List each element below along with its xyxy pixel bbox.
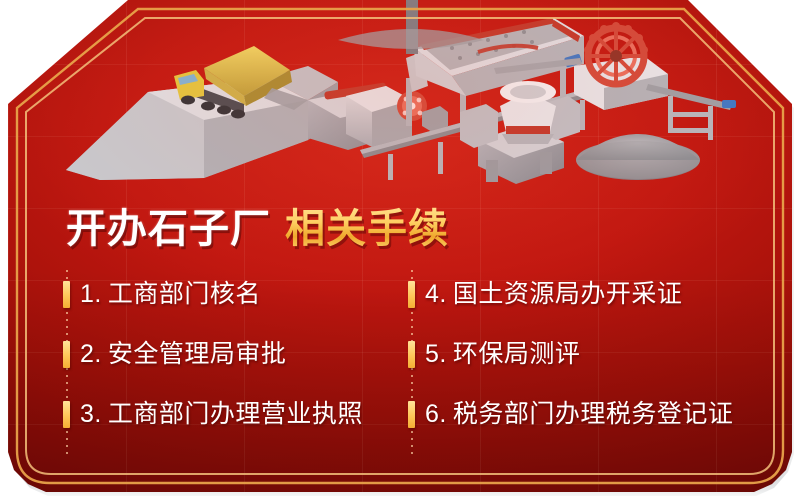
list-item-label: 环保局测评 (453, 342, 581, 367)
list-item-index: 1. (80, 282, 102, 307)
list-item-label: 工商部门核名 (108, 282, 261, 307)
bullet-bar-icon (63, 401, 70, 428)
list-item[interactable]: 1. 工商部门核名 (58, 274, 261, 314)
bullet-bar-icon (63, 341, 70, 368)
steps-column-right: 4. 国土资源局办开采证 5. 环保局测评 6. 税务部门办理税务登记证 (403, 266, 775, 462)
bullet-bar-icon (408, 341, 415, 368)
list-item-index: 2. (80, 342, 102, 367)
bullet-bar-icon (63, 281, 70, 308)
list-item-index: 4. (425, 282, 447, 307)
stockpile-icon (576, 134, 700, 180)
bullet-bar-icon (408, 401, 415, 428)
list-item[interactable]: 3. 工商部门办理营业执照 (58, 394, 363, 434)
list-item[interactable]: 6. 税务部门办理税务登记证 (403, 394, 733, 434)
steps-column-left: 1. 工商部门核名 2. 安全管理局审批 3. 工商部门办理营业执照 (58, 266, 430, 462)
list-item-index: 5. (425, 342, 447, 367)
list-item[interactable]: 5. 环保局测评 (403, 334, 580, 374)
production-line-illustration (8, 0, 792, 200)
list-item-index: 3. (80, 402, 102, 427)
poster-root: 开办石子厂 相关手续 1. 工商部门核名 2. 安全管理局审批 (0, 0, 800, 500)
bullet-bar-icon (408, 281, 415, 308)
list-item-index: 6. (425, 402, 447, 427)
list-item-label: 国土资源局办开采证 (453, 282, 683, 307)
list-item[interactable]: 4. 国土资源局办开采证 (403, 274, 682, 314)
list-item[interactable]: 2. 安全管理局审批 (58, 334, 286, 374)
page-title-accent: 相关手续 (285, 196, 449, 254)
poster-plate: 开办石子厂 相关手续 1. 工商部门核名 2. 安全管理局审批 (8, 0, 792, 492)
page-title: 开办石子厂 相关手续 (66, 197, 449, 253)
list-item-label: 安全管理局审批 (108, 342, 287, 367)
page-title-primary: 开办石子厂 (66, 196, 271, 254)
list-item-label: 工商部门办理营业执照 (108, 402, 363, 427)
list-item-label: 税务部门办理税务登记证 (453, 402, 734, 427)
steps-list: 1. 工商部门核名 2. 安全管理局审批 3. 工商部门办理营业执照 (8, 266, 792, 462)
